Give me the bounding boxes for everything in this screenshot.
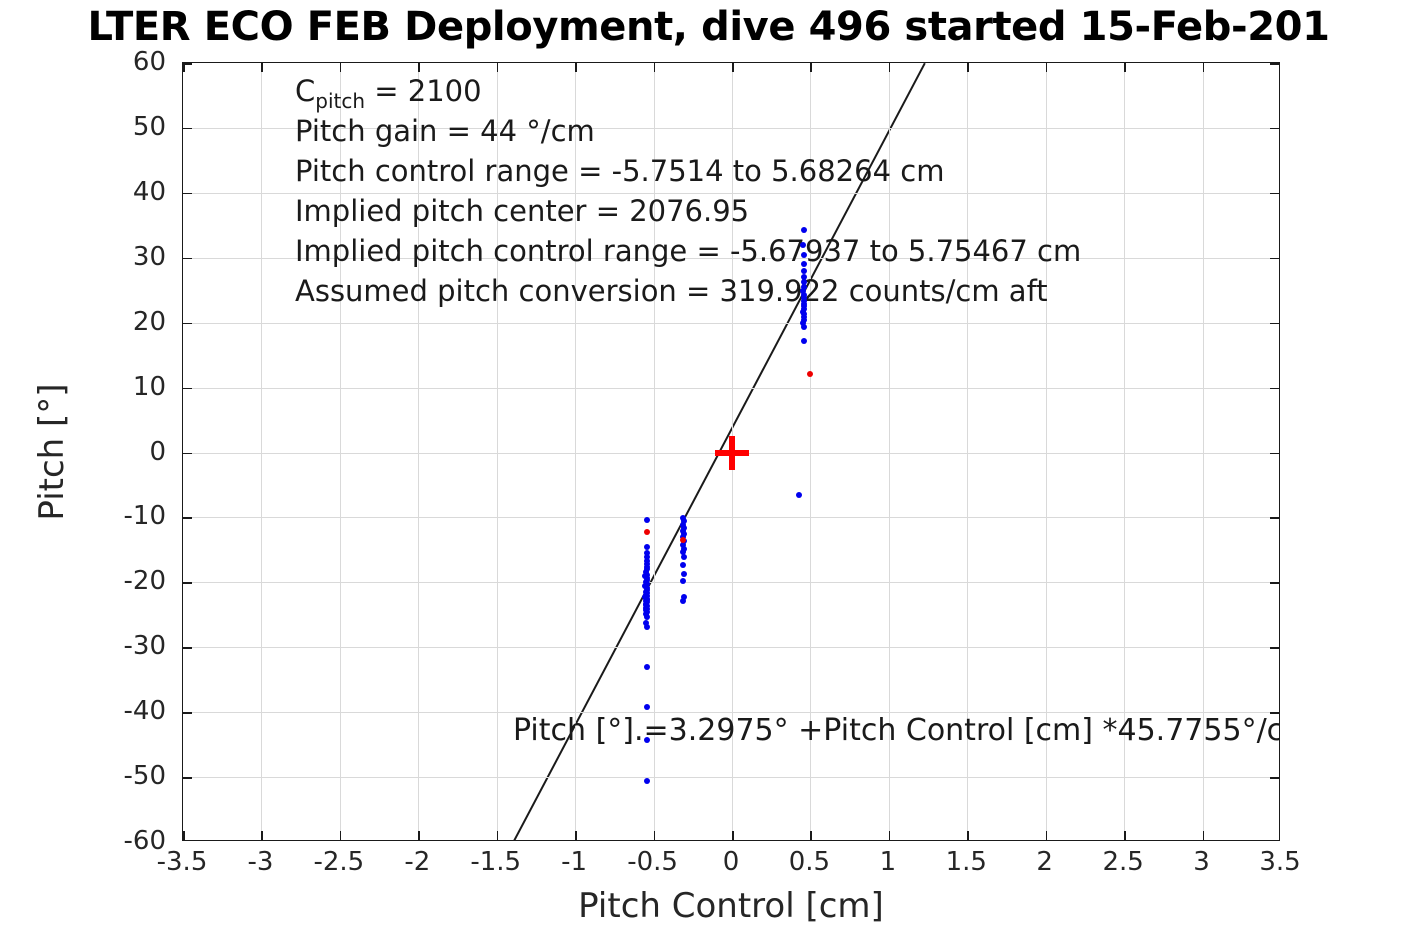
x-axis-tick	[654, 831, 656, 840]
y-axis-tick	[183, 777, 192, 779]
y-axis-tick	[1270, 128, 1279, 130]
data-point	[801, 252, 807, 258]
x-tick-label: -2.5	[313, 847, 364, 877]
x-tick-label: 3	[1193, 847, 1210, 877]
gridline-horizontal	[183, 647, 1279, 648]
y-tick-label: -10	[60, 501, 166, 531]
x-axis-tick	[732, 831, 734, 840]
origin-plus-marker	[715, 436, 749, 470]
data-point	[801, 338, 807, 344]
x-axis-tick	[183, 831, 185, 840]
y-axis-tick	[1270, 258, 1279, 260]
x-axis-tick	[261, 63, 263, 72]
y-tick-label: 30	[60, 242, 166, 272]
x-axis-tick	[967, 831, 969, 840]
x-tick-label: 1	[880, 847, 897, 877]
x-tick-label: 0	[723, 847, 740, 877]
y-tick-label: 60	[60, 47, 166, 77]
data-point	[681, 554, 687, 560]
annotation-block: Cpitch = 2100Pitch gain = 44 °/cmPitch c…	[295, 71, 1081, 311]
y-tick-label: 10	[60, 372, 166, 402]
y-axis-tick	[1270, 517, 1279, 519]
x-tick-label: -1.5	[470, 847, 521, 877]
data-point	[644, 737, 650, 743]
y-tick-label: -60	[60, 826, 166, 856]
x-axis-tick	[810, 831, 812, 840]
gridline-horizontal	[183, 388, 1279, 389]
y-axis-tick	[1270, 193, 1279, 195]
x-tick-label: -0.5	[627, 847, 678, 877]
x-axis-tick	[889, 831, 891, 840]
gridline-horizontal	[183, 582, 1279, 583]
y-axis-tick	[1270, 453, 1279, 455]
data-point	[644, 529, 650, 535]
data-point	[680, 537, 686, 543]
y-tick-label: 40	[60, 177, 166, 207]
annotation-line-6: Assumed pitch conversion = 319.922 count…	[295, 271, 1081, 311]
x-tick-label: 1.5	[946, 847, 987, 877]
x-axis-tick	[1124, 831, 1126, 840]
data-point	[644, 664, 650, 670]
y-axis-tick	[183, 323, 192, 325]
y-axis-tick	[1270, 388, 1279, 390]
x-axis-tick	[418, 831, 420, 840]
data-point	[800, 242, 806, 248]
x-tick-label: 2.5	[1102, 847, 1143, 877]
gridline-horizontal	[183, 517, 1279, 518]
y-axis-tick	[1270, 323, 1279, 325]
annotation-line-cpitch: Cpitch = 2100	[295, 71, 1081, 111]
data-point	[644, 517, 650, 523]
data-point	[801, 324, 807, 330]
y-tick-label: 0	[60, 437, 166, 467]
gridline-horizontal	[183, 323, 1279, 324]
data-point	[681, 571, 687, 577]
data-point	[644, 704, 650, 710]
x-axis-tick	[340, 831, 342, 840]
x-axis-label: Pitch Control [cm]	[182, 886, 1280, 926]
fit-equation-label: Pitch [°].=3.2975° +Pitch Control [cm] *…	[513, 713, 1280, 748]
chart-title: LTER ECO FEB Deployment, dive 496 starte…	[0, 0, 1417, 56]
y-tick-label: -40	[60, 696, 166, 726]
x-tick-label: -1	[561, 847, 587, 877]
annotation-line-2: Pitch gain = 44 °/cm	[295, 111, 1081, 151]
x-axis-tick	[261, 831, 263, 840]
y-tick-label: 20	[60, 307, 166, 337]
plot-area: Cpitch = 2100Pitch gain = 44 °/cmPitch c…	[182, 62, 1280, 841]
x-axis-tick	[575, 831, 577, 840]
x-tick-label: -3	[247, 847, 273, 877]
chart-figure: LTER ECO FEB Deployment, dive 496 starte…	[0, 0, 1417, 945]
y-axis-tick	[1270, 777, 1279, 779]
data-point	[680, 562, 686, 568]
data-point	[801, 268, 807, 274]
y-tick-label: -30	[60, 631, 166, 661]
y-axis-tick	[1270, 647, 1279, 649]
y-axis-tick	[183, 453, 192, 455]
data-point	[807, 371, 813, 377]
x-tick-label: 0.5	[789, 847, 830, 877]
data-point	[680, 578, 686, 584]
annotation-line-4: Implied pitch center = 2076.95	[295, 191, 1081, 231]
y-tick-label: -20	[60, 566, 166, 596]
x-axis-tick	[1046, 831, 1048, 840]
y-axis-tick	[183, 388, 192, 390]
y-axis-tick	[1270, 582, 1279, 584]
gridline-vertical	[261, 63, 262, 840]
y-axis-tick	[183, 582, 192, 584]
x-axis-tick	[497, 831, 499, 840]
x-axis-tick	[1203, 63, 1205, 72]
y-axis-tick	[183, 128, 192, 130]
data-point	[644, 624, 650, 630]
x-tick-label: 2	[1036, 847, 1053, 877]
chart-title-text: LTER ECO FEB Deployment, dive 496 starte…	[87, 0, 1329, 54]
y-axis-tick	[183, 193, 192, 195]
y-axis-tick	[183, 258, 192, 260]
data-point	[644, 778, 650, 784]
data-point	[801, 227, 807, 233]
x-axis-tick	[1124, 63, 1126, 72]
plus-vertical-bar	[729, 436, 735, 470]
x-axis-tick	[1203, 831, 1205, 840]
x-tick-label: 3.5	[1259, 847, 1300, 877]
y-axis-tick	[183, 712, 192, 714]
y-axis-tick	[183, 63, 192, 65]
y-axis-tick	[183, 517, 192, 519]
y-tick-label: 50	[60, 112, 166, 142]
y-tick-label: -50	[60, 761, 166, 791]
data-point	[796, 492, 802, 498]
data-point	[680, 598, 686, 604]
data-point	[801, 261, 807, 267]
annotation-line-3: Pitch control range = -5.7514 to 5.68264…	[295, 151, 1081, 191]
y-axis-tick	[183, 647, 192, 649]
gridline-horizontal	[183, 777, 1279, 778]
x-tick-label: -2	[404, 847, 430, 877]
annotation-line-5: Implied pitch control range = -5.67937 t…	[295, 231, 1081, 271]
y-axis-tick	[1270, 63, 1279, 65]
